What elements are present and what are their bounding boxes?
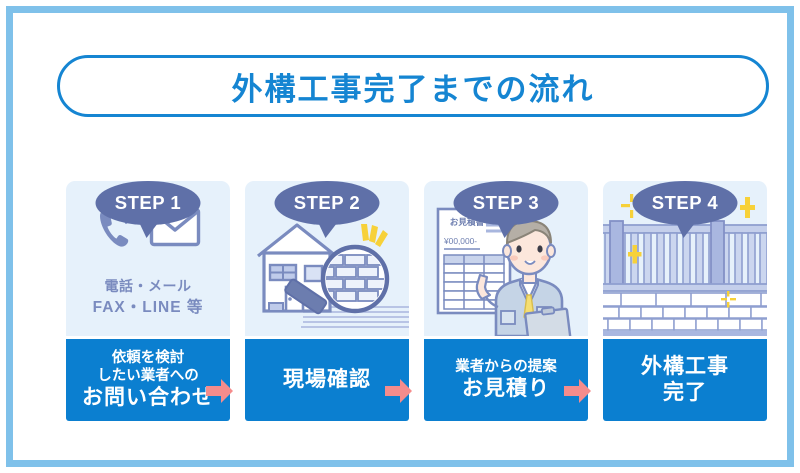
step-label-4: 外構工事 完了: [603, 336, 767, 421]
page-title: 外構工事完了までの流れ: [232, 64, 595, 109]
step-badge-label: STEP 4: [652, 192, 718, 214]
quote-document-amount: ¥00,000-: [443, 236, 477, 246]
step-label-line3: お問い合わせ: [82, 385, 214, 411]
step-label-line2: 完了: [663, 380, 707, 406]
arrow-right-icon-2: [385, 378, 413, 404]
step-card-4[interactable]: STEP 4: [603, 181, 767, 421]
contact-caption-line2: FAX・LINE 等: [66, 297, 230, 319]
steps-container: STEP 1: [13, 141, 800, 431]
step-badge-2: STEP 2: [275, 181, 380, 225]
step-label-line1: 業者からの提案: [455, 358, 557, 376]
step-label-line1: 依頼を検討: [112, 349, 185, 367]
infographic-frame: 外構工事完了までの流れ STEP 1: [6, 6, 794, 467]
contact-caption-line1: 電話・メール: [66, 277, 230, 297]
contact-caption: 電話・メール FAX・LINE 等: [66, 277, 230, 319]
page-title-pill: 外構工事完了までの流れ: [57, 55, 769, 117]
step-badge-3: STEP 3: [454, 181, 559, 225]
step-badge-label: STEP 3: [473, 192, 539, 214]
step-label-line1: 外構工事: [641, 354, 729, 380]
brick-wall-icon: [603, 293, 767, 336]
arrow-right-icon-3: [564, 378, 592, 404]
step-badge-label: STEP 2: [294, 192, 360, 214]
arrow-right-icon-1: [206, 378, 234, 404]
step-label-line2: したい業者への: [97, 367, 199, 385]
step-badge-4: STEP 4: [633, 181, 738, 225]
sparkle-icon: [361, 224, 388, 247]
step-badge-label: STEP 1: [115, 192, 181, 214]
step-label-line2: お見積り: [462, 376, 550, 402]
step-badge-1: STEP 1: [96, 181, 201, 225]
step-label-line1: 現場確認: [283, 367, 371, 393]
